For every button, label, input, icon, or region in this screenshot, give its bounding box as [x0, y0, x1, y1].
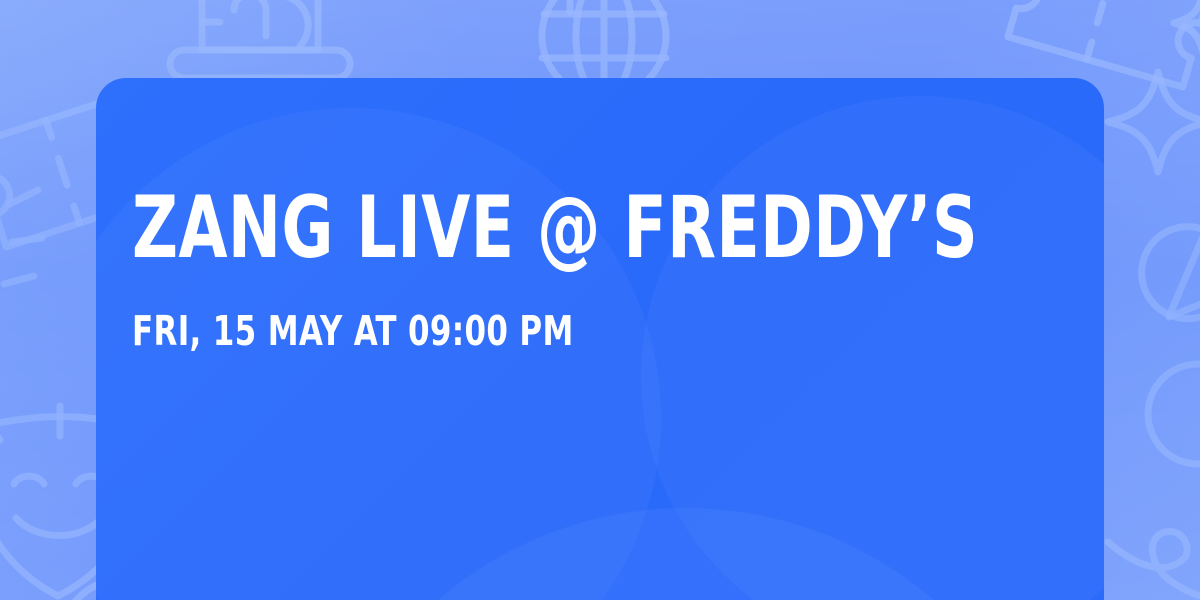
sparkle-icon: [1098, 62, 1200, 182]
event-datetime: FRI, 15 MAY AT 09:00 PM: [132, 311, 915, 352]
event-title: ZANG LIVE @ FREDDY’S: [132, 188, 896, 269]
event-card-content: ZANG LIVE @ FREDDY’S FRI, 15 MAY AT 09:0…: [132, 188, 1064, 352]
microphone-icon: [1120, 196, 1200, 396]
sparkle-icon: [1168, 0, 1200, 58]
confetti-icon: [0, 180, 100, 320]
event-card[interactable]: ZANG LIVE @ FREDDY’S FRI, 15 MAY AT 09:0…: [96, 78, 1104, 600]
map-pin-icon: [540, 0, 600, 38]
event-banner-page: ZANG LIVE @ FREDDY’S FRI, 15 MAY AT 09:0…: [0, 0, 1200, 600]
